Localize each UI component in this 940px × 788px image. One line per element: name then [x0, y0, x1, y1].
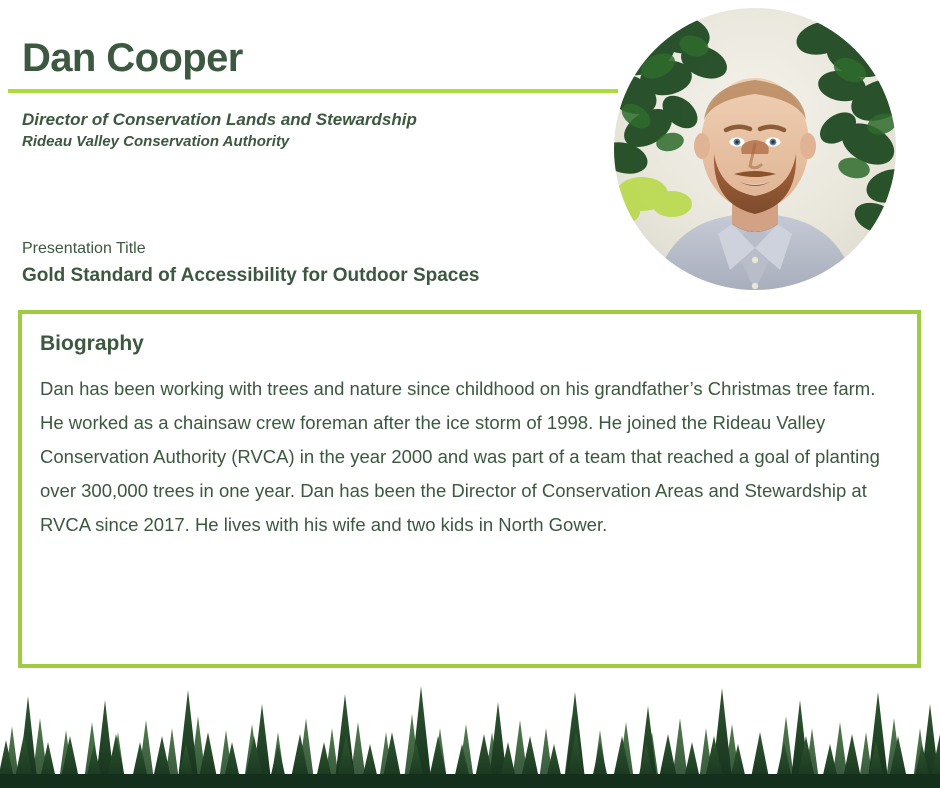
speaker-role: Director of Conservation Lands and Stewa… [22, 108, 417, 133]
biography-heading: Biography [40, 332, 144, 356]
accent-divider [8, 89, 618, 93]
biography-panel: Biography Dan has been working with tree… [18, 310, 921, 668]
speaker-portrait-icon [614, 8, 896, 290]
avatar [614, 8, 896, 290]
biography-text: Dan has been working with trees and natu… [40, 372, 897, 542]
conifer-forest-icon [0, 678, 940, 788]
speaker-bio-slide: Dan Cooper Director of Conservation Land… [0, 0, 940, 788]
forest-silhouette-band [0, 678, 940, 788]
speaker-organization: Rideau Valley Conservation Authority [22, 131, 289, 153]
page-title: Dan Cooper [22, 38, 243, 78]
presentation-title: Gold Standard of Accessibility for Outdo… [22, 264, 479, 289]
presentation-title-label: Presentation Title [22, 239, 146, 260]
